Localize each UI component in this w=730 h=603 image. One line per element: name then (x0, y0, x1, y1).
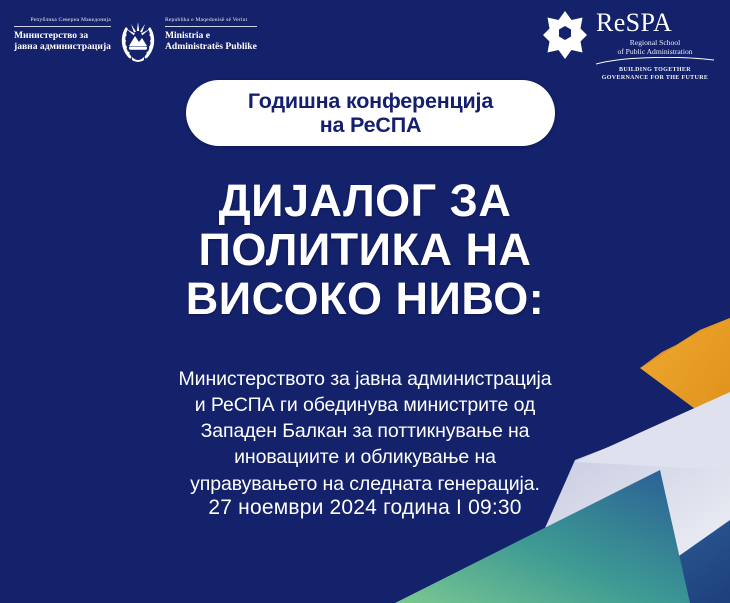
headline-line-2: ПОЛИТИКА НА (0, 225, 730, 274)
body-line-2: и РеСПА ги обединува министрите од (0, 392, 730, 418)
ministry-country-mk: Република Северна Македонија (31, 17, 111, 26)
headline-line-1: ДИЈАЛОГ ЗА (0, 176, 730, 225)
banner-line-1: Годишна конференција (248, 89, 493, 113)
ministry-rule-mk (14, 26, 111, 27)
respa-tagline: BUILDING TOGETHER GOVERNANCE FOR THE FUT… (602, 67, 708, 82)
banner-line-2: на РеСПА (320, 113, 422, 137)
body-line-1: Министерството за јавна администрација (0, 366, 730, 392)
ministry-name-mk-line1: Министерство за (14, 30, 88, 41)
respa-wordmark: ReSPA (596, 10, 672, 36)
body-line-4: иновациите и обликување на (0, 444, 730, 470)
headline-line-3: ВИСОКО НИВО: (0, 274, 730, 323)
respa-subtitle: Regional School of Public Administration (617, 38, 692, 56)
page-title: ДИЈАЛОГ ЗА ПОЛИТИКА НА ВИСОКО НИВО: (0, 176, 730, 323)
ministry-name-mk-line2: јавна администрација (14, 41, 111, 52)
ministry-rule-al (165, 26, 257, 27)
body-line-3: Западен Балкан за поттикнување на (0, 418, 730, 444)
ministry-country-al: Republika e Maqedonisë së Veriut (165, 17, 247, 26)
steel-blue-triangle (612, 520, 730, 603)
ministry-name-al: Ministria e Administratës Publike (165, 30, 257, 52)
ministry-name-al-line2: Administratës Publike (165, 41, 257, 52)
respa-swoosh-icon (596, 57, 714, 66)
respa-subtitle-line1: Regional School (617, 38, 692, 47)
event-description: Министерството за јавна администрација и… (0, 366, 730, 497)
ministry-logo-lockup: Република Северна Македонија Министерств… (14, 14, 257, 63)
orange-wedge-shape (640, 318, 730, 368)
respa-text-block: ReSPA Regional School of Public Administ… (596, 10, 714, 82)
respa-star-icon (542, 10, 588, 60)
body-line-5: управувањето на следната генерација. (0, 471, 730, 497)
respa-subtitle-line2: of Public Administration (617, 47, 692, 56)
event-date-time: 27 ноември 2024 година I 09:30 (0, 496, 730, 520)
coat-of-arms-icon (118, 15, 158, 63)
respa-tagline-line2: GOVERNANCE FOR THE FUTURE (602, 75, 708, 83)
ministry-name-al-line1: Ministria e (165, 30, 210, 41)
poster-header: Република Северна Македонија Министерств… (0, 0, 730, 90)
ministry-name-mk: Министерство за јавна администрација (14, 30, 111, 52)
respa-tagline-line1: BUILDING TOGETHER (602, 67, 708, 75)
respa-logo-lockup: ReSPA Regional School of Public Administ… (542, 10, 714, 82)
ministry-macedonian-block: Република Северна Македонија Министерств… (14, 14, 111, 52)
conference-title-banner: Годишна конференција на РеСПА (186, 80, 555, 146)
ministry-albanian-block: Republika e Maqedonisë së Veriut Ministr… (165, 14, 257, 52)
conference-announcement-poster: Република Северна Македонија Министерств… (0, 0, 730, 603)
